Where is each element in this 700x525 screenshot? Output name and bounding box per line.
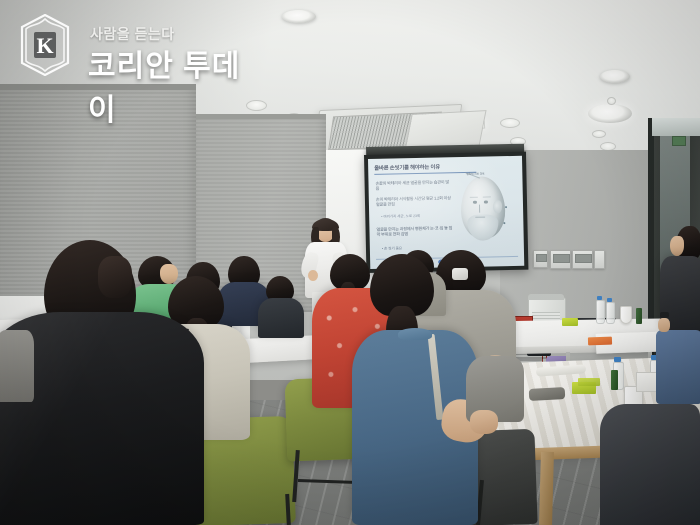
standing-attendee-face	[670, 236, 684, 256]
photo-scene: 올바른 손씻기를 해야하는 이유 손끝의 박테리아 세균 얼굴을 만지는 습관이…	[0, 0, 700, 525]
attendee-near-presenter-body	[258, 298, 304, 338]
standing-attendee-jeans	[656, 330, 700, 404]
gray-pouch	[529, 387, 566, 401]
slide-subnote: • 손 씻기 중요	[382, 246, 402, 251]
slide-subnote: • 여러가지 세균, 노로 23회	[381, 214, 420, 219]
exit-sign	[672, 136, 686, 146]
standing-attendee-hand	[658, 318, 670, 332]
slide-bullet: 손끝의 박테리아 세균 얼굴을 만지는 습관이 많음	[375, 179, 451, 191]
wall-control-panel[interactable]	[533, 250, 548, 268]
downlight-icon	[607, 97, 616, 105]
green-container	[578, 378, 600, 386]
slide-bullet: 얼굴을 만지는 과정에서 병원체가 눈·코·입 등 점막 부위로 전파 감염	[376, 225, 452, 237]
green-bottle	[636, 308, 642, 324]
transom-window	[652, 118, 700, 136]
head-jaw	[467, 214, 499, 241]
attendee-blue-shirt-collar	[398, 328, 432, 340]
downlight-icon	[592, 130, 606, 138]
bottle-cap	[614, 357, 621, 362]
hexagon-k-logo-icon: K	[18, 14, 72, 76]
downlight-icon	[500, 118, 520, 128]
watermark-logo: K 사람을 듣는다 코리안 투데이	[14, 8, 264, 80]
watermark-brand: 코리안 투데이	[88, 41, 264, 129]
attendee-right-edge-body	[600, 404, 700, 525]
attendee-foreground-left-bun	[98, 256, 132, 298]
downlight-icon	[282, 10, 316, 23]
light-switch-panel[interactable]	[572, 250, 593, 269]
projector-screen: 올바른 손씻기를 해야하는 이유 손끝의 박테리아 세균 얼굴을 만지는 습관이…	[368, 156, 524, 269]
water-bottle	[596, 300, 605, 324]
attendee-left-edge-sleeve	[0, 330, 34, 402]
attendee-gray-sleeve-hand	[470, 410, 498, 434]
green-bottle	[611, 370, 618, 390]
orange-tray	[588, 337, 612, 346]
thermostat-panel[interactable]	[550, 250, 571, 269]
foreground-table-leg	[539, 452, 554, 525]
paper-cup	[620, 306, 632, 324]
bottle-cap	[607, 298, 612, 302]
downlight-icon	[600, 70, 630, 83]
air-purifier-top	[528, 294, 564, 300]
downlight-icon	[588, 104, 632, 123]
head-model-graphic: 병원체 전파 경로	[452, 170, 516, 255]
svg-text:K: K	[36, 33, 53, 58]
hair-clip	[452, 268, 468, 280]
slide-bullet: 손의 박테리아 서식활동 시간당 평균 1.2회 이상 얼굴을 만짐	[376, 195, 452, 207]
bottle-cap	[597, 296, 602, 300]
water-bottle	[606, 302, 615, 324]
presenter-hand-left	[308, 270, 318, 281]
attendee-green-shirt-face	[160, 264, 178, 284]
head-ear	[493, 200, 502, 213]
wall-switch[interactable]	[594, 250, 605, 269]
green-container	[562, 318, 578, 326]
